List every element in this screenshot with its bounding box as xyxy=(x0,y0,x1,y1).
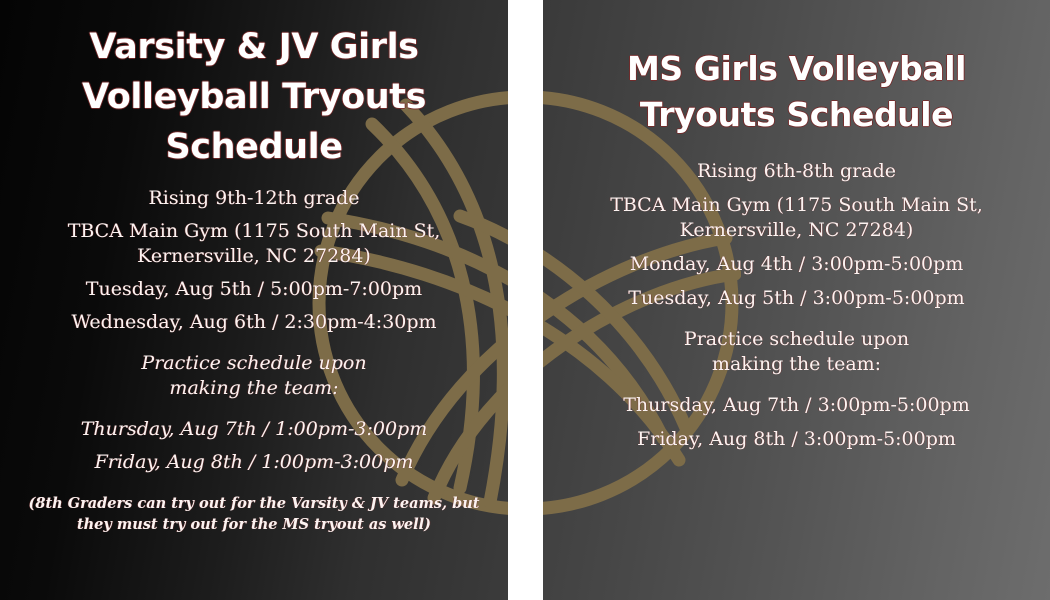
left-tryout-session-2: Wednesday, Aug 6th / 2:30pm-4:30pm xyxy=(71,310,436,335)
left-location-line: TBCA Main Gym (1175 South Main St, Kerne… xyxy=(39,219,469,269)
right-tryout-session-1: Monday, Aug 4th / 3:00pm-5:00pm xyxy=(630,252,964,277)
left-practice-heading-line1: Practice schedule upon xyxy=(141,351,366,376)
ms-panel: MS Girls Volleyball Tryouts Schedule Ris… xyxy=(543,0,1050,600)
right-panel-content: MS Girls Volleyball Tryouts Schedule Ris… xyxy=(543,0,1050,600)
right-panel-title: MS Girls Volleyball Tryouts Schedule xyxy=(592,46,1002,138)
right-tryout-session-2: Tuesday, Aug 5th / 3:00pm-5:00pm xyxy=(628,286,964,311)
left-panel-content: Varsity & JV Girls Volleyball Tryouts Sc… xyxy=(0,0,508,600)
left-grade-line: Rising 9th-12th grade xyxy=(148,186,359,211)
right-location-line: TBCA Main Gym (1175 South Main St, Kerne… xyxy=(582,193,1012,243)
panel-divider xyxy=(508,0,543,600)
left-practice-session-1: Thursday, Aug 7th / 1:00pm-3:00pm xyxy=(81,417,427,442)
poster-canvas: Varsity & JV Girls Volleyball Tryouts Sc… xyxy=(0,0,1050,600)
right-practice-session-2: Friday, Aug 8th / 3:00pm-5:00pm xyxy=(637,427,956,452)
left-panel-title: Varsity & JV Girls Volleyball Tryouts Sc… xyxy=(54,22,454,172)
right-practice-heading-line2: making the team: xyxy=(712,352,881,377)
left-tryout-session-1: Tuesday, Aug 5th / 5:00pm-7:00pm xyxy=(86,277,422,302)
varsity-jv-panel: Varsity & JV Girls Volleyball Tryouts Sc… xyxy=(0,0,508,600)
left-practice-heading-line2: making the team: xyxy=(169,376,338,401)
left-practice-session-2: Friday, Aug 8th / 1:00pm-3:00pm xyxy=(95,450,414,475)
right-grade-line: Rising 6th-8th grade xyxy=(697,159,896,184)
right-practice-heading-line1: Practice schedule upon xyxy=(684,327,909,352)
right-practice-session-1: Thursday, Aug 7th / 3:00pm-5:00pm xyxy=(623,393,969,418)
left-panel-note: (8th Graders can try out for the Varsity… xyxy=(19,493,489,535)
